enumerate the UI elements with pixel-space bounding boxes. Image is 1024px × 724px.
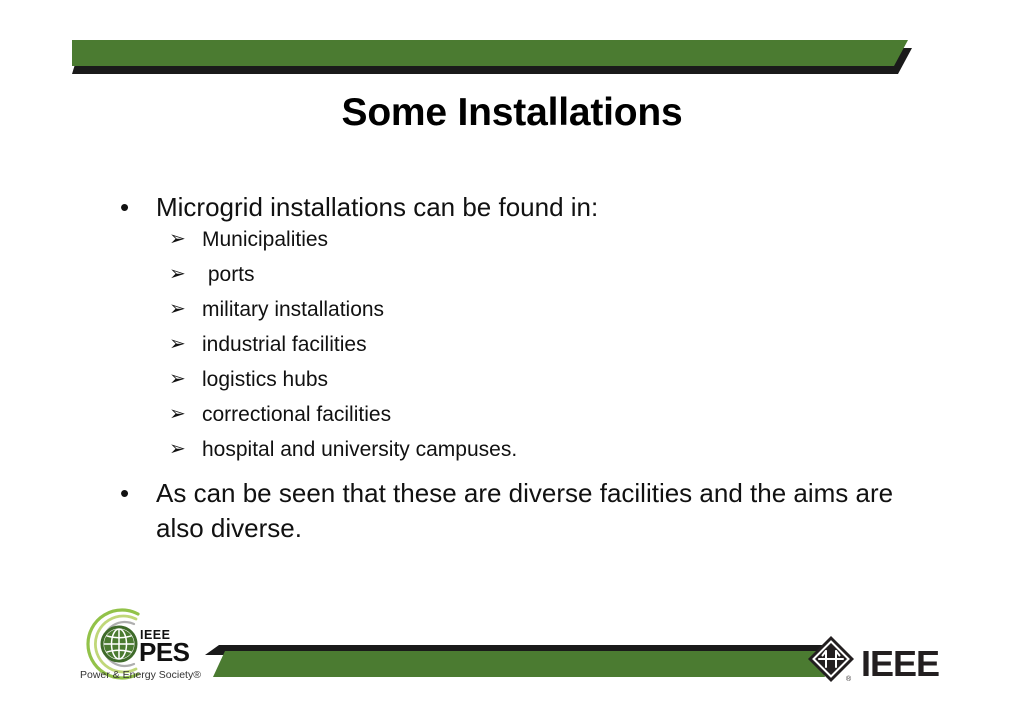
list-item: ➢ industrial facilities (112, 334, 912, 355)
ieee-wordmark: IEEE (861, 643, 939, 684)
bullet-text: Microgrid installations can be found in: (156, 190, 912, 224)
ieee-diamond-icon: ® (808, 636, 854, 683)
arrow-bullet-icon: ➢ (169, 334, 202, 355)
list-item-label: correctional facilities (202, 404, 912, 425)
page-title: Some Installations (0, 92, 1024, 135)
bullet-item-primary: • As can be seen that these are diverse … (112, 476, 912, 545)
slide-canvas: Some Installations • Microgrid installat… (0, 0, 1024, 724)
list-item-label: hospital and university campuses. (202, 439, 912, 460)
list-item: ➢ logistics hubs (112, 369, 912, 390)
list-item-label: logistics hubs (202, 369, 912, 390)
sub-bullet-list: ➢ Municipalities ➢ ports ➢ military inst… (112, 229, 912, 460)
list-item: ➢ correctional facilities (112, 404, 912, 425)
arrow-bullet-icon: ➢ (169, 299, 202, 320)
content-body: • Microgrid installations can be found i… (112, 190, 912, 547)
bullet-marker-icon: • (112, 476, 156, 510)
bullet-marker-icon: • (112, 190, 156, 224)
pes-globe-icon (102, 627, 136, 661)
bottom-banner-decoration (205, 645, 825, 681)
arrow-bullet-icon: ➢ (169, 404, 202, 425)
bottom-banner-bar (213, 651, 825, 677)
list-item: ➢ ports (112, 264, 912, 285)
arrow-bullet-icon: ➢ (169, 439, 202, 460)
list-item: ➢ Municipalities (112, 229, 912, 250)
ieee-logo: ® IEEE (806, 634, 956, 686)
arrow-bullet-icon: ➢ (169, 229, 202, 250)
top-banner-bar (72, 40, 908, 66)
list-item: ➢ military installations (112, 299, 912, 320)
pes-pes-wordmark: PES (139, 637, 190, 667)
list-item-label: ports (202, 264, 912, 285)
ieee-registered-mark: ® (846, 675, 852, 683)
list-item-label: industrial facilities (202, 334, 912, 355)
list-item-label: Municipalities (202, 229, 912, 250)
top-banner-decoration (72, 40, 912, 74)
list-item: ➢ hospital and university campuses. (112, 439, 912, 460)
pes-tagline: Power & Energy Society® (80, 669, 201, 681)
bullet-text: As can be seen that these are diverse fa… (156, 476, 896, 545)
arrow-bullet-icon: ➢ (169, 264, 202, 285)
ieee-pes-logo: IEEE PES Power & Energy Society® (78, 608, 210, 692)
list-item-label: military installations (202, 299, 912, 320)
arrow-bullet-icon: ➢ (169, 369, 202, 390)
bullet-item-primary: • Microgrid installations can be found i… (112, 190, 912, 224)
